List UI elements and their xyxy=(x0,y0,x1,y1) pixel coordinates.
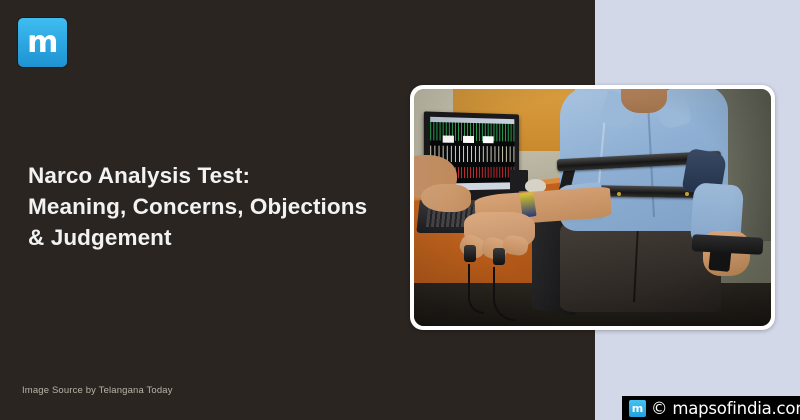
page-title: Narco Analysis Test: Meaning, Concerns, … xyxy=(28,160,428,253)
logo-glyph: m xyxy=(18,28,67,58)
photo-sensor-cable xyxy=(468,264,484,313)
polygraph-test-photo xyxy=(414,89,771,326)
photo-chart-marker xyxy=(463,136,474,143)
photo-chart-marker xyxy=(442,136,453,143)
watermark-text: © mapsofindia.com xyxy=(651,399,800,418)
article-photo-frame xyxy=(410,85,775,330)
photo-finger-sensor xyxy=(493,248,505,265)
watermark-bar: m © mapsofindia.com xyxy=(622,396,800,420)
photo-chart-marker xyxy=(483,136,494,143)
image-source-credit: Image Source by Telangana Today xyxy=(22,385,173,396)
photo-finger-sensor xyxy=(464,245,476,262)
photo-operator-hand xyxy=(421,184,471,212)
watermark-logo-icon: m xyxy=(629,400,646,417)
mapsofindia-logo-icon[interactable]: m xyxy=(18,18,67,67)
banner-canvas: m Narco Analysis Test: Meaning, Concerns… xyxy=(0,0,800,420)
photo-chair-armrest xyxy=(692,234,764,254)
photo-subject-neck xyxy=(621,89,667,113)
